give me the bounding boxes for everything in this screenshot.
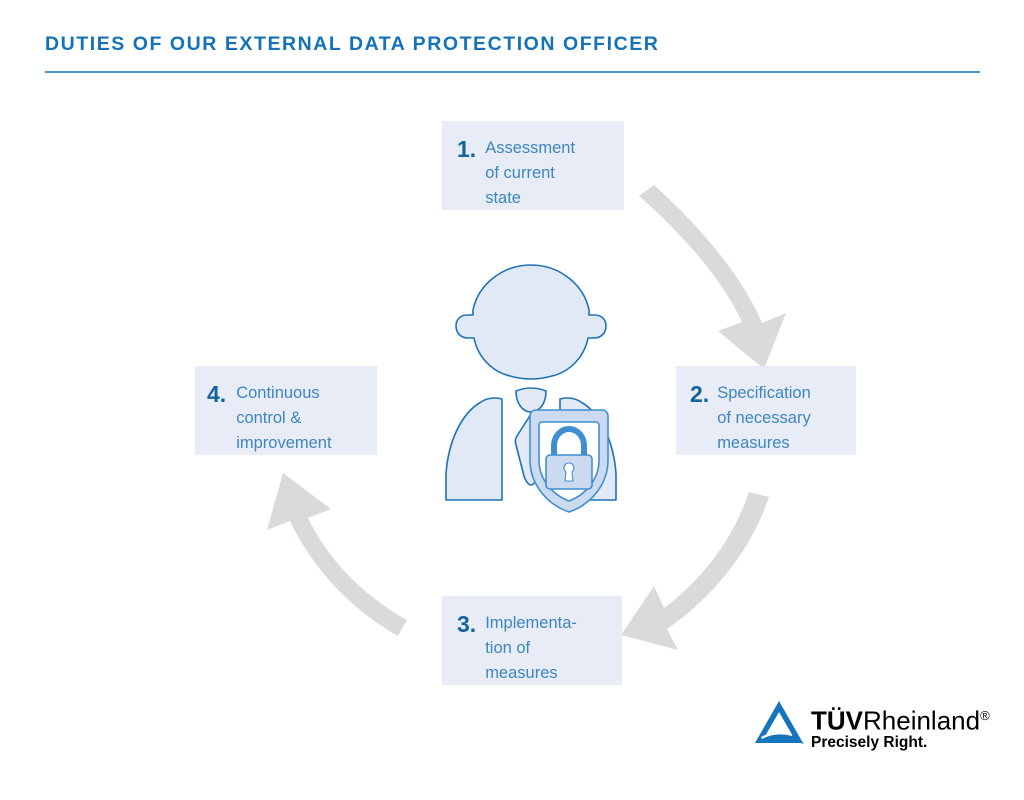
- step-number: 1.: [457, 136, 476, 162]
- logo-wordmark: TÜVRheinland®: [811, 701, 990, 736]
- step-label: Specification of necessary measures: [717, 381, 811, 456]
- logo-word-rheinland: Rheinland: [863, 706, 980, 736]
- cycle-step-1[interactable]: 1. Assessment of current state: [442, 121, 624, 210]
- step-label: Implementa- tion of measures: [485, 611, 577, 686]
- logo-word-tuv: TÜV: [811, 706, 863, 736]
- cycle-step-3[interactable]: 3. Implementa- tion of measures: [442, 596, 622, 685]
- page-title: DUTIES OF OUR EXTERNAL DATA PROTECTION O…: [45, 33, 659, 56]
- step-number: 3.: [457, 611, 476, 637]
- cycle-step-4[interactable]: 4. Continuous control & improvement: [195, 366, 377, 455]
- cycle-step-2[interactable]: 2. Specification of necessary measures: [676, 366, 856, 455]
- step-number: 4.: [207, 381, 226, 407]
- tuv-rheinland-triangle-icon: [753, 699, 805, 747]
- step-number: 2.: [690, 381, 709, 407]
- registered-trademark-icon: ®: [980, 708, 990, 723]
- title-divider: [45, 71, 980, 73]
- tuv-rheinland-logo: TÜVRheinland® Precisely Right.: [753, 697, 985, 755]
- person-with-security-shield-icon: [398, 258, 664, 524]
- arrow-step3-to-step4: [267, 473, 407, 636]
- step-label: Assessment of current state: [485, 136, 575, 211]
- slide-canvas: DUTIES OF OUR EXTERNAL DATA PROTECTION O…: [0, 0, 1024, 800]
- logo-tagline: Precisely Right.: [811, 734, 927, 752]
- step-label: Continuous control & improvement: [236, 381, 331, 456]
